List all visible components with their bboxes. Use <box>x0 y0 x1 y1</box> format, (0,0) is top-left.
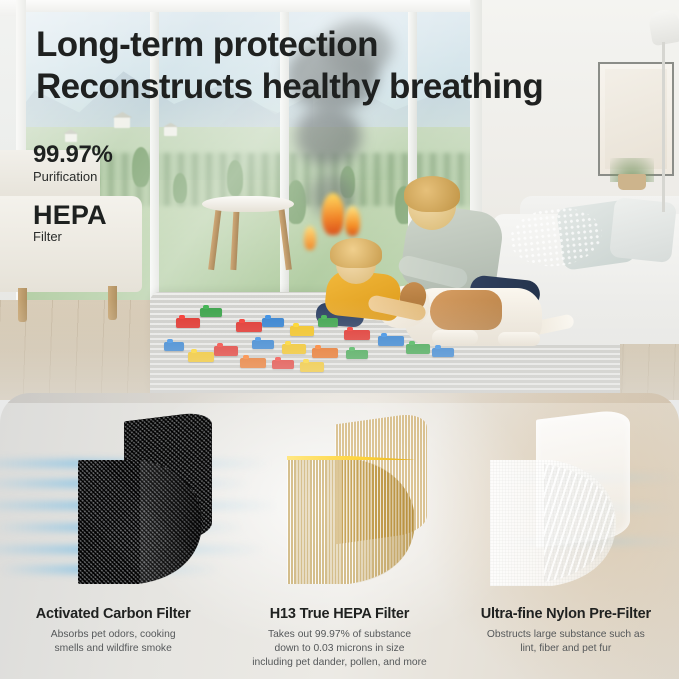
caption-h13-true-hepa-filter: H13 True HEPA Filter Takes out 99.97% of… <box>226 604 452 679</box>
badge-hepa: HEPA Filter <box>33 202 107 245</box>
older-child-hair <box>404 176 460 212</box>
caption-title: Ultra-fine Nylon Pre-Filter <box>461 604 671 624</box>
hepa-label: Filter <box>33 228 107 245</box>
caption-description-line: smells and wildfire smoke <box>8 642 218 656</box>
product-feature-poster: Long-term protection Reconstructs health… <box>0 0 679 679</box>
purification-value: 99.97% <box>33 142 113 168</box>
caption-description-line: lint, fiber and pet fur <box>461 642 671 656</box>
caption-description-line: Obstructs large substance such as <box>461 628 671 642</box>
caption-title: H13 True HEPA Filter <box>234 604 444 624</box>
photo-haze <box>0 300 679 400</box>
headline-line-2: Reconstructs healthy breathing <box>36 66 656 108</box>
headline-line-1: Long-term protection <box>36 25 378 64</box>
sofa-pillow <box>609 197 677 263</box>
stool-seat <box>202 196 294 212</box>
purification-label: Purification <box>33 168 113 185</box>
caption-description: Absorbs pet odors, cooking smells and wi… <box>8 628 218 656</box>
page-title: Long-term protection Reconstructs health… <box>36 24 656 108</box>
younger-child-hair <box>330 238 382 268</box>
caption-description: Takes out 99.97% of substance down to 0.… <box>234 628 444 670</box>
caption-description-line: down to 0.03 microns in size <box>234 642 444 656</box>
badge-purification: 99.97% Purification <box>33 142 113 185</box>
floor-lamp-pole <box>662 42 665 212</box>
plant-pot <box>618 174 646 190</box>
caption-description: Obstructs large substance such as lint, … <box>461 628 671 656</box>
caption-title: Activated Carbon Filter <box>8 604 218 624</box>
caption-activated-carbon-filter: Activated Carbon Filter Absorbs pet odor… <box>0 604 226 679</box>
ultra-fine-nylon-pre-filter-image <box>490 414 630 586</box>
hepa-value: HEPA <box>33 202 107 228</box>
filter-captions: Activated Carbon Filter Absorbs pet odor… <box>0 604 679 679</box>
window-frame-top <box>24 0 476 12</box>
caption-description-line: Absorbs pet odors, cooking <box>8 628 218 642</box>
activated-carbon-filter-image <box>78 416 212 584</box>
caption-description-line: including pet dander, pollen, and more <box>234 656 444 670</box>
caption-description-line: Takes out 99.97% of substance <box>234 628 444 642</box>
caption-ultra-fine-nylon-pre-filter: Ultra-fine Nylon Pre-Filter Obstructs la… <box>453 604 679 679</box>
h13-true-hepa-filter-image <box>287 418 427 584</box>
